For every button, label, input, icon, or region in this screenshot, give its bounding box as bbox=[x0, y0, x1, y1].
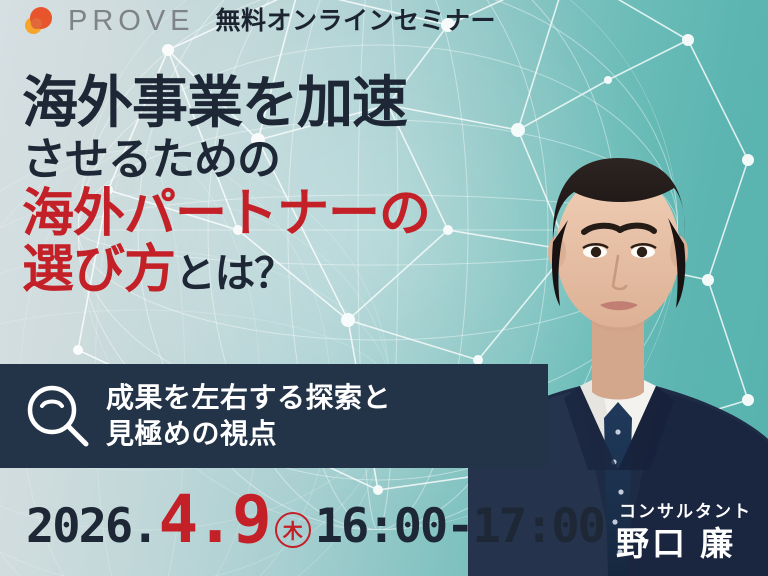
schedule-day-of-week: 木 bbox=[275, 512, 311, 548]
headline-line-3: 海外パートナーの bbox=[22, 188, 430, 240]
subtitle-line-2: 見極めの視点 bbox=[106, 416, 391, 452]
brand-name: PROVE bbox=[68, 7, 195, 36]
schedule-time: 16:00-17:00 bbox=[315, 499, 604, 554]
headline-block: 海外事業を加速 させるための 海外パートナーの 選び方とは？ bbox=[22, 76, 430, 296]
headline-line-2: させるための bbox=[22, 138, 430, 182]
schedule-row: 2026. 4.9 木 16:00-17:00 bbox=[26, 481, 604, 558]
headline-line-1: 海外事業を加速 bbox=[22, 76, 430, 132]
subtitle-text: 成果を左右する探索と 見極めの視点 bbox=[106, 380, 391, 452]
webinar-banner: PROVE 無料オンラインセミナー 海外事業を加速 させるための 海外パートナー… bbox=[0, 0, 768, 576]
logo-circle-overlap bbox=[31, 18, 42, 29]
speaker-caption: コンサルタント 野口 廉 bbox=[616, 502, 752, 562]
magnifier-icon bbox=[22, 380, 94, 452]
header-tagline: 無料オンラインセミナー bbox=[216, 9, 497, 34]
schedule-year: 2026. bbox=[26, 499, 157, 554]
speaker-name: 野口 廉 bbox=[616, 526, 752, 562]
prove-logo-icon bbox=[24, 5, 55, 37]
speaker-role: コンサルタント bbox=[619, 502, 752, 522]
headline-line-4-dark: とは？ bbox=[175, 249, 294, 297]
subtitle-banner: 成果を左右する探索と 見極めの視点 bbox=[0, 364, 548, 468]
headline-line-4-red: 選び方 bbox=[22, 240, 175, 300]
header: PROVE 無料オンラインセミナー bbox=[24, 5, 496, 37]
headline-line-4: 選び方とは？ bbox=[22, 244, 430, 296]
subtitle-line-1: 成果を左右する探索と bbox=[106, 380, 391, 416]
schedule-day: 4.9 bbox=[158, 481, 268, 558]
